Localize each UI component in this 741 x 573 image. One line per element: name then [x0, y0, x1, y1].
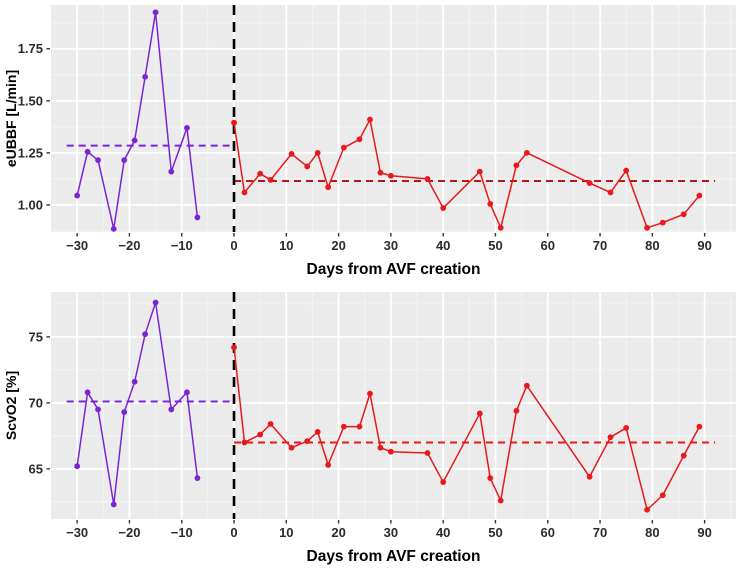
data-point[interactable] — [341, 145, 347, 151]
y-tick-label: 70 — [29, 395, 43, 410]
data-point[interactable] — [524, 383, 530, 389]
x-tick-label: −20 — [118, 238, 140, 253]
data-point[interactable] — [513, 162, 519, 168]
data-point[interactable] — [357, 424, 363, 430]
y-axis-title: ScvO2 [%] — [3, 371, 19, 440]
x-tick-label: 20 — [331, 238, 345, 253]
data-point[interactable] — [315, 429, 321, 435]
x-tick-label: 70 — [593, 238, 607, 253]
data-point[interactable] — [378, 445, 384, 451]
data-point[interactable] — [644, 507, 650, 513]
data-point[interactable] — [315, 150, 321, 156]
data-point[interactable] — [168, 407, 174, 413]
x-tick-label: 60 — [541, 238, 555, 253]
data-point[interactable] — [341, 424, 347, 430]
data-point[interactable] — [440, 479, 446, 485]
data-point[interactable] — [242, 190, 248, 196]
panel-background — [51, 5, 736, 232]
y-axis-title: eUBBF [L/min] — [3, 70, 19, 167]
data-point[interactable] — [184, 125, 190, 131]
y-tick-label: 65 — [29, 461, 43, 476]
data-point[interactable] — [95, 157, 101, 163]
y-tick-label: 1.75 — [18, 41, 43, 56]
x-tick-label: 40 — [436, 525, 450, 540]
data-point[interactable] — [487, 201, 493, 207]
y-tick-label: 1.00 — [18, 197, 43, 212]
data-point[interactable] — [477, 411, 483, 417]
data-point[interactable] — [697, 424, 703, 430]
data-point[interactable] — [257, 432, 263, 438]
data-point[interactable] — [153, 300, 159, 306]
x-axis-title: Days from AVF creation — [307, 261, 481, 278]
x-tick-label: 70 — [593, 525, 607, 540]
data-point[interactable] — [388, 449, 394, 455]
x-tick-label: 20 — [331, 525, 345, 540]
x-tick-label: 40 — [436, 238, 450, 253]
data-point[interactable] — [111, 226, 117, 232]
x-tick-label: 0 — [230, 525, 237, 540]
data-point[interactable] — [304, 438, 310, 444]
data-point[interactable] — [121, 157, 127, 163]
x-tick-label: −20 — [118, 525, 140, 540]
data-point[interactable] — [325, 462, 331, 468]
panel-background — [51, 292, 736, 519]
data-point[interactable] — [231, 345, 237, 351]
x-tick-label: 50 — [488, 525, 502, 540]
x-tick-label: 30 — [384, 238, 398, 253]
x-tick-label: 30 — [384, 525, 398, 540]
x-tick-label: −10 — [171, 525, 193, 540]
data-point[interactable] — [95, 407, 101, 413]
x-tick-label: 60 — [541, 525, 555, 540]
data-point[interactable] — [644, 225, 650, 231]
data-point[interactable] — [257, 171, 263, 177]
data-point[interactable] — [367, 117, 373, 123]
x-tick-label: 50 — [488, 238, 502, 253]
data-point[interactable] — [587, 474, 593, 480]
data-point[interactable] — [425, 176, 431, 182]
data-point[interactable] — [231, 120, 237, 126]
x-tick-label: 10 — [279, 238, 293, 253]
data-point[interactable] — [378, 170, 384, 176]
x-tick-label: −30 — [66, 525, 88, 540]
x-axis-title: Days from AVF creation — [307, 548, 481, 565]
data-point[interactable] — [425, 450, 431, 456]
data-point[interactable] — [325, 184, 331, 190]
x-tick-label: 80 — [645, 525, 659, 540]
data-point[interactable] — [498, 225, 504, 231]
data-point[interactable] — [498, 498, 504, 504]
x-tick-label: 90 — [697, 525, 711, 540]
x-tick-label: −30 — [66, 238, 88, 253]
x-tick-label: 0 — [230, 238, 237, 253]
data-point[interactable] — [111, 502, 117, 508]
data-point[interactable] — [132, 379, 138, 385]
scvo2-plot-svg: −30−20−100102030405060708090657075Days f… — [0, 287, 741, 573]
data-point[interactable] — [367, 391, 373, 397]
data-point[interactable] — [660, 492, 666, 498]
data-point[interactable] — [289, 445, 295, 451]
data-point[interactable] — [608, 434, 614, 440]
data-point[interactable] — [74, 463, 80, 469]
chart-panel-scvo2: −30−20−100102030405060708090657075Days f… — [0, 287, 741, 573]
data-point[interactable] — [388, 173, 394, 179]
data-point[interactable] — [681, 211, 687, 217]
figure-root: −30−20−1001020304050607080901.001.251.50… — [0, 0, 741, 573]
data-point[interactable] — [85, 389, 91, 395]
data-point[interactable] — [85, 149, 91, 155]
x-tick-label: 80 — [645, 238, 659, 253]
data-point[interactable] — [623, 168, 629, 174]
data-point[interactable] — [195, 475, 201, 481]
y-tick-label: 1.25 — [18, 145, 43, 160]
eubbf-plot-svg: −30−20−1001020304050607080901.001.251.50… — [0, 0, 741, 286]
x-tick-label: 90 — [697, 238, 711, 253]
data-point[interactable] — [153, 9, 159, 15]
data-point[interactable] — [587, 180, 593, 186]
data-point[interactable] — [487, 475, 493, 481]
data-point[interactable] — [121, 409, 127, 415]
data-point[interactable] — [608, 190, 614, 196]
data-point[interactable] — [74, 193, 80, 199]
y-tick-label: 75 — [29, 329, 43, 344]
data-point[interactable] — [697, 193, 703, 199]
data-point[interactable] — [268, 177, 274, 183]
data-point[interactable] — [477, 169, 483, 175]
data-point[interactable] — [195, 215, 201, 221]
data-point[interactable] — [184, 389, 190, 395]
chart-panel-eubbf: −30−20−1001020304050607080901.001.251.50… — [0, 0, 741, 286]
data-point[interactable] — [168, 169, 174, 175]
data-point[interactable] — [357, 136, 363, 142]
data-point[interactable] — [304, 164, 310, 170]
data-point[interactable] — [623, 425, 629, 431]
data-point[interactable] — [513, 408, 519, 414]
data-point[interactable] — [289, 151, 295, 157]
data-point[interactable] — [142, 331, 148, 337]
data-point[interactable] — [142, 74, 148, 80]
x-tick-label: −10 — [171, 238, 193, 253]
data-point[interactable] — [681, 453, 687, 459]
data-point[interactable] — [660, 220, 666, 226]
data-point[interactable] — [524, 150, 530, 156]
data-point[interactable] — [242, 440, 248, 446]
data-point[interactable] — [440, 205, 446, 211]
data-point[interactable] — [132, 137, 138, 143]
y-tick-label: 1.50 — [18, 93, 43, 108]
data-point[interactable] — [268, 421, 274, 427]
x-tick-label: 10 — [279, 525, 293, 540]
